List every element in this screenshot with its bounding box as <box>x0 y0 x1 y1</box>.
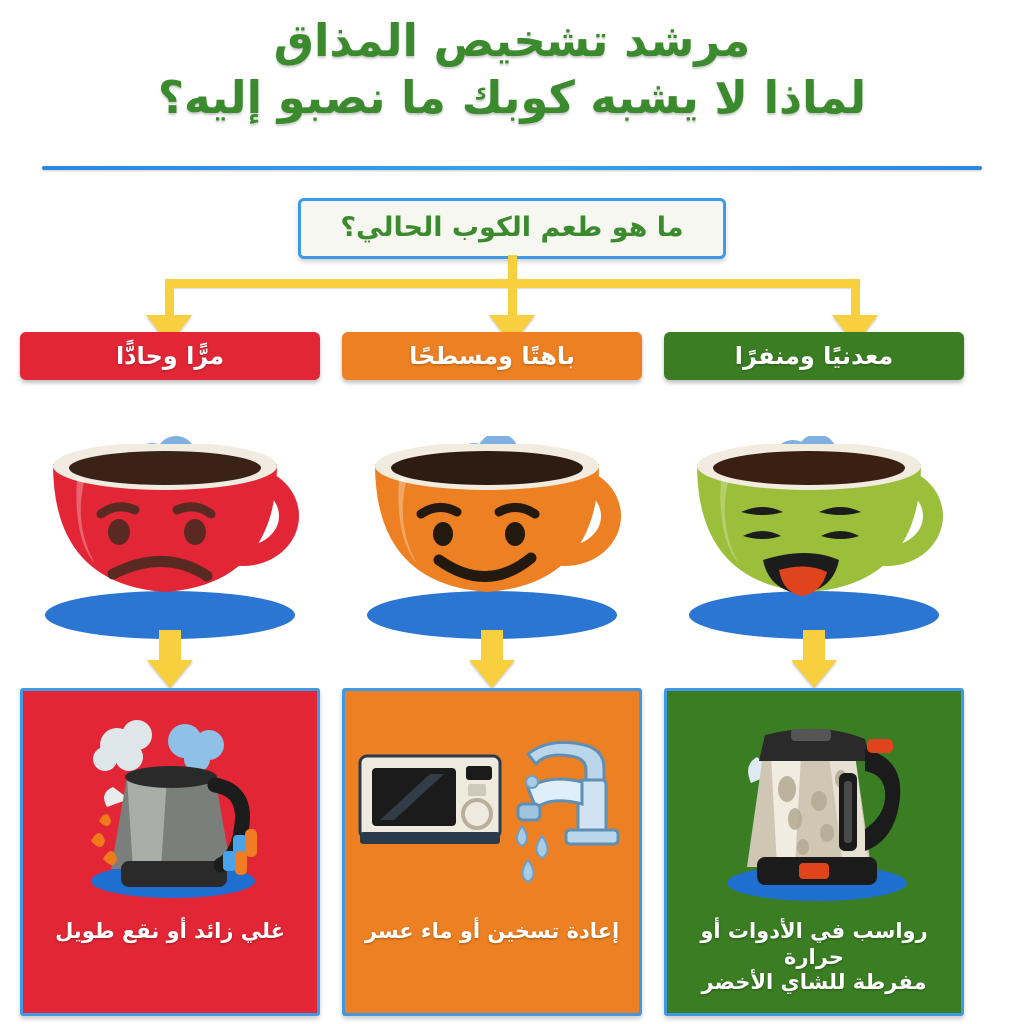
limescale-kettle-icon <box>699 715 929 905</box>
down-arrow-head-2 <box>469 660 515 688</box>
result-card-caption-3: رواسب في الأدوات أو حرارة مفرطة للشاي ال… <box>667 913 961 1013</box>
cup-icon-3 <box>679 444 949 619</box>
down-arrow-head-3 <box>791 660 837 688</box>
title-divider <box>42 166 982 170</box>
microwave-icon <box>360 756 500 844</box>
branch-column-3: معدنيًا ومنفرًا <box>664 332 964 1016</box>
cup-illustration-3 <box>664 386 964 634</box>
branch-tag-1: مرًّا وحادًّا <box>20 332 320 380</box>
down-arrow-head-1 <box>147 660 193 688</box>
result-card-3: رواسب في الأدوات أو حرارة مفرطة للشاي ال… <box>664 688 964 1016</box>
microwave-and-faucet-icon <box>352 720 632 900</box>
cup-illustration-2 <box>342 386 642 634</box>
boiling-kettle-icon <box>65 715 275 905</box>
branch-tag-label-1: مرًّا وحادًّا <box>116 342 224 370</box>
branch-column-1: مرًّا وحادًّا <box>20 332 320 1016</box>
result-card-caption-1: غلي زائد أو نقع طويل <box>23 913 317 1013</box>
result-card-art-3 <box>667 699 961 921</box>
faucet-icon <box>517 742 618 882</box>
branch-tag-2: باهتًا ومسطحًا <box>342 332 642 380</box>
down-arrow-icon-3 <box>664 630 964 688</box>
result-card-2: إعادة تسخين أو ماء عسر <box>342 688 642 1016</box>
down-arrow-shaft-3 <box>803 630 825 662</box>
result-card-caption-line-1-0: غلي زائد أو نقع طويل <box>43 919 297 945</box>
result-card-caption-line-3-1: مفرطة للشاي الأخضر <box>667 970 961 996</box>
title-line-1: مرشد تشخيص المذاق <box>0 14 1024 67</box>
result-card-art-1 <box>23 699 317 921</box>
down-arrow-shaft-2 <box>481 630 503 662</box>
title-line-2: لماذا لا يشبه كوبك ما نصبو إليه؟ <box>0 71 1024 124</box>
branch-tag-label-2: باهتًا ومسطحًا <box>409 342 575 370</box>
question-box: ما هو طعم الكوب الحالي؟ <box>298 198 726 259</box>
infographic-page: مرشد تشخيص المذاق لماذا لا يشبه كوبك ما … <box>0 0 1024 1024</box>
down-arrow-icon-1 <box>20 630 320 688</box>
cup-illustration-1 <box>20 386 320 634</box>
branch-tag-label-3: معدنيًا ومنفرًا <box>735 342 893 370</box>
branch-tag-3: معدنيًا ومنفرًا <box>664 332 964 380</box>
branch-columns: مرًّا وحادًّا <box>0 332 1024 1012</box>
page-title: مرشد تشخيص المذاق لماذا لا يشبه كوبك ما … <box>0 14 1024 124</box>
result-card-art-2 <box>345 699 639 921</box>
result-card-caption-line-3-0: رواسب في الأدوات أو حرارة <box>667 919 961 970</box>
branch-column-2: باهتًا ومسطحًا <box>342 332 642 1016</box>
result-card-caption-2: إعادة تسخين أو ماء عسر <box>345 913 639 1013</box>
down-arrow-icon-2 <box>342 630 642 688</box>
result-card-1: غلي زائد أو نقع طويل <box>20 688 320 1016</box>
cup-icon-2 <box>357 444 627 619</box>
question-text: ما هو طعم الكوب الحالي؟ <box>327 212 697 243</box>
result-card-caption-line-2-0: إعادة تسخين أو ماء عسر <box>353 919 631 945</box>
cup-icon-1 <box>35 444 305 619</box>
down-arrow-shaft-1 <box>159 630 181 662</box>
